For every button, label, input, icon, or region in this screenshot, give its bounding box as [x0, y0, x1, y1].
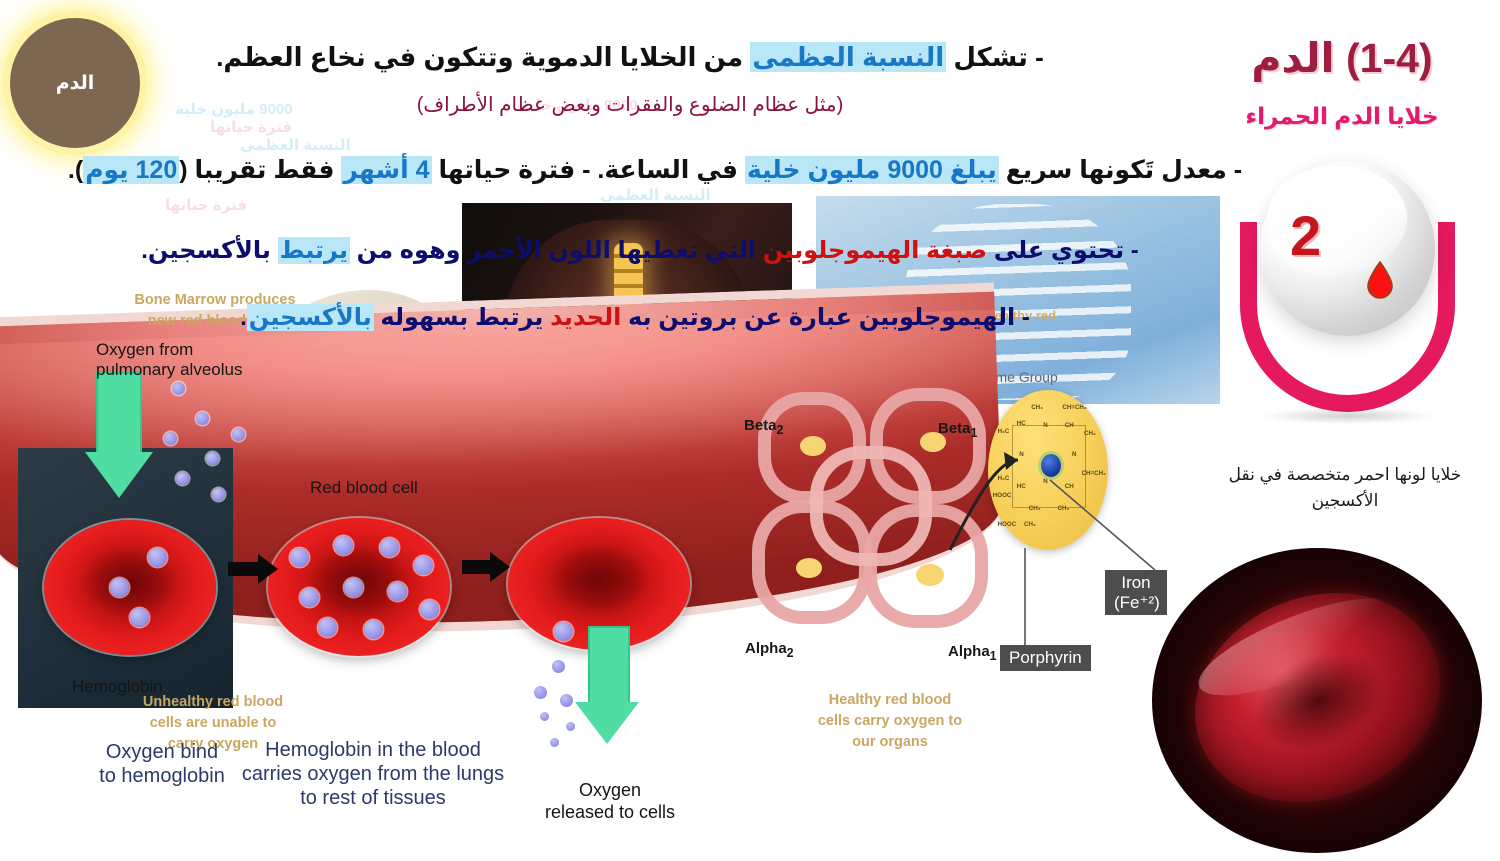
callout-leader-lines — [940, 430, 1170, 670]
oxygen-molecule — [414, 556, 433, 575]
chem-label: CH₃ — [1031, 404, 1043, 411]
ghost-text-artifact: فترة حياتها — [165, 196, 247, 214]
bullet4-part-a: - الهيموجلوبين عبارة عن بروتين به — [621, 304, 1030, 331]
oxygen-molecule — [534, 686, 547, 699]
bullet4-red-term: الحديد — [550, 304, 621, 331]
rbc-sphere-badge: 2 — [1240, 155, 1455, 415]
oxygen-molecule — [388, 582, 407, 601]
bullet2-highlight-rate: يبلغ 9000 مليون خلية — [745, 156, 999, 184]
bullet2-part-d: ). — [68, 156, 83, 184]
ghost-text-artifact: النسبة العظمى — [240, 136, 351, 154]
page-title: (1-4) الدم — [1202, 34, 1482, 82]
ghost-text-artifact: فترة حياتها — [210, 118, 292, 136]
oxygen-molecule — [540, 712, 549, 721]
bullet4-part-c: . — [240, 304, 247, 331]
bullet-line-1: - تشكل النسبة العظمى من الخلايا الدموية … — [0, 42, 1260, 73]
bullet2-highlight-days: 120 يوم — [83, 156, 179, 184]
rbc-description-caption: خلايا لونها احمر متخصصة في نقل الأكسجين — [1220, 462, 1470, 515]
bullet1-part-a: - تشكل — [946, 42, 1044, 72]
oxygen-molecule — [212, 488, 225, 501]
process-arrow-1 — [228, 562, 260, 576]
hb-carries-label: Hemoglobin in the blood carries oxygen f… — [238, 738, 508, 810]
bullet1-highlight: النسبة العظمى — [750, 42, 946, 72]
oxygen-molecule — [552, 660, 565, 673]
oxygen-molecule — [344, 578, 363, 597]
oxygen-molecule — [554, 622, 573, 641]
beta1-label: Beta1 — [938, 420, 977, 440]
heme-site-3 — [796, 558, 822, 578]
bullet4-highlight: بالأكسجين — [247, 304, 374, 331]
bullet3-part-a: - تحتوي على — [987, 237, 1139, 264]
oxygen-molecule — [560, 694, 573, 707]
oxygen-molecule — [206, 452, 219, 465]
bullet2-highlight-months: 4 أشهر — [341, 156, 431, 184]
bullet-line-4: - الهيموجلوبين عبارة عن بروتين به الحديد… — [0, 303, 1270, 332]
oxygen-molecule — [380, 538, 399, 557]
bullet-line-1-note: (مثل عظام الضلوع والفقرات وبعض عظام الأط… — [0, 92, 1260, 117]
porphyrin-callout: Porphyrin — [1000, 645, 1091, 671]
oxygen-alveolus-label: Oxygen from pulmonary alveolus — [96, 340, 242, 381]
oxygen-molecule — [420, 600, 439, 619]
oxygen-bind-label: Oxygen bind to hemoglobin — [62, 740, 262, 788]
oxygen-molecule — [334, 536, 353, 555]
oxygen-molecule — [566, 722, 575, 731]
chem-label: HC — [1017, 420, 1026, 427]
bullet2-part-c: فقط تقريبا ( — [179, 156, 341, 184]
beta2-label: Beta2 — [744, 417, 783, 437]
page-subtitle: خلايا الدم الحمراء — [1202, 103, 1482, 130]
oxygen-molecule — [196, 412, 209, 425]
oxygen-molecule — [148, 548, 167, 567]
bullet-line-3: - تحتوي على صبغة الهيموجلوبين التي تعطيه… — [0, 236, 1280, 265]
blood-drop-icon — [1366, 261, 1394, 299]
bullet4-part-b: يرتبط بسهوله — [374, 304, 550, 331]
oxygen-molecule — [364, 620, 383, 639]
oxygen-molecule — [290, 548, 309, 567]
oxygen-molecule — [550, 738, 559, 747]
rbc-cell-1 — [44, 520, 216, 655]
slide-canvas: Red blood cell carries of carbon dioxide… — [0, 0, 1500, 861]
red-blood-cell-label: Red blood cell — [310, 478, 418, 498]
bullet2-part-a: - معدل تَكونها سريع — [999, 156, 1242, 184]
oxygen-molecule — [300, 588, 319, 607]
process-arrow-2 — [462, 560, 492, 574]
bullet1-part-b: من الخلايا الدموية وتتكون في نخاع العظم. — [216, 42, 750, 72]
ghost-text-artifact: النسبة العظمى — [600, 186, 711, 204]
sphere-gloss — [1267, 166, 1407, 275]
blood-circle-badge[interactable]: الدم — [10, 18, 140, 148]
alpha1-label: Alpha1 — [948, 643, 997, 663]
oxygen-released-label: Oxygen released to cells — [520, 780, 700, 823]
alpha2-label: Alpha2 — [745, 640, 794, 660]
oxygen-molecule — [130, 608, 149, 627]
bullet3-red-term: صبغة الهيموجلوبين — [763, 237, 987, 264]
bullet2-part-b: في الساعة. - فترة حياتها — [432, 156, 745, 184]
heme-site-1 — [800, 436, 826, 456]
oxygen-molecule — [232, 428, 245, 441]
oxygen-molecule — [164, 432, 177, 445]
bullet3-part-c: بالأكسجين. — [141, 237, 277, 264]
oxygen-molecule — [172, 382, 185, 395]
bullet3-part-b: التي تعطيها اللون الأحمر وهوه من — [350, 237, 763, 264]
sphere-shadow — [1262, 408, 1434, 424]
oxygen-molecule — [318, 618, 337, 637]
iron-callout: Iron (Fe⁺²) — [1105, 570, 1167, 615]
globin-chain-center — [810, 446, 932, 566]
sphere-shape: 2 — [1260, 161, 1435, 336]
rbc-microscope-photo — [1152, 548, 1482, 853]
chem-label: CH=CH₂ — [1062, 404, 1086, 411]
oxygen-molecule — [176, 472, 189, 485]
healthy-cells-label: Healthy red blood cells carry oxygen to … — [790, 690, 990, 753]
sphere-number: 2 — [1290, 203, 1321, 268]
oxygen-molecule — [110, 578, 129, 597]
bullet3-highlight: يرتبط — [278, 237, 350, 264]
chem-label: CH — [1065, 422, 1074, 429]
chem-label: N — [1043, 422, 1047, 429]
rbc-photo-cell-body — [1163, 557, 1471, 838]
bullet-line-2: - معدل تَكونها سريع يبلغ 9000 مليون خلية… — [0, 155, 1310, 185]
